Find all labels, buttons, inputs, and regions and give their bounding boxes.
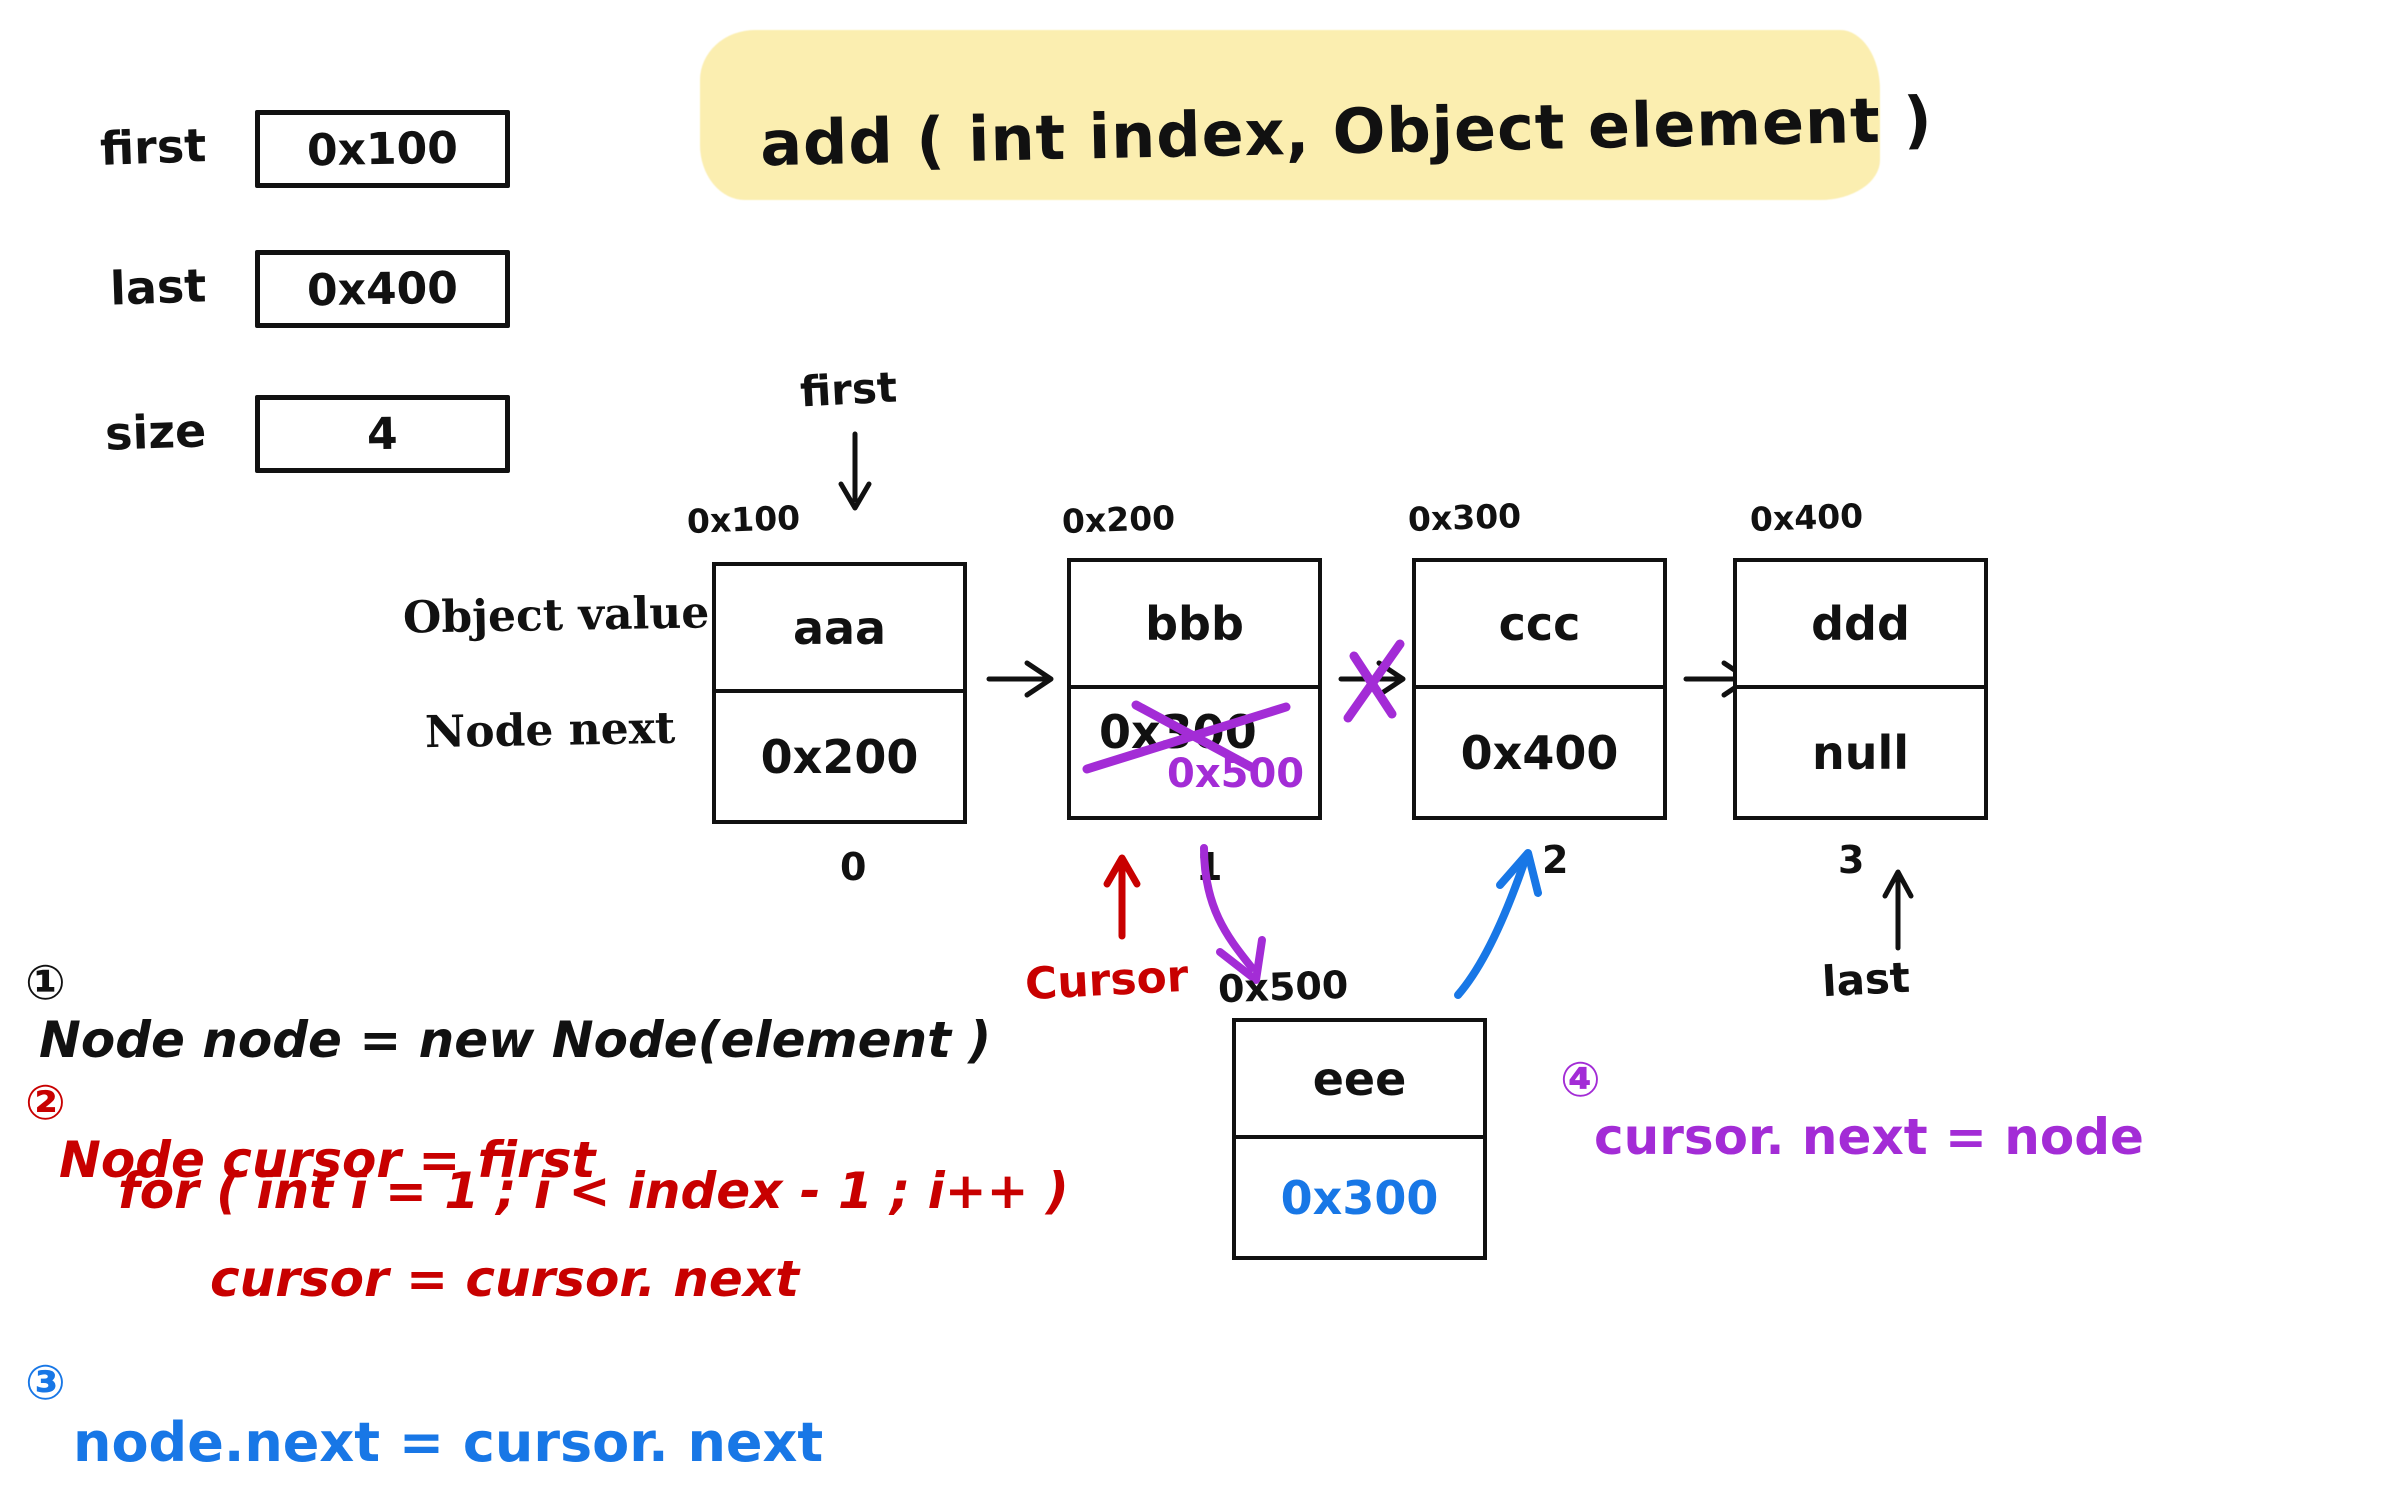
- node-box-3[interactable]: ddd null: [1733, 558, 1988, 820]
- first-pointer-label: first: [799, 362, 898, 416]
- field-box-last[interactable]: 0x400: [255, 250, 510, 328]
- row-label-node-next: Node next: [425, 703, 676, 758]
- node-index-3: 3: [1838, 838, 1864, 882]
- last-pointer-arrow-icon: [1878, 862, 1918, 952]
- node-box-1[interactable]: bbb 0x300 0x500: [1067, 558, 1322, 820]
- new-node-next-cell: 0x300: [1236, 1139, 1483, 1256]
- step-2-for-text: for ( int i = 1 ; i < index - 1 ; i++ ): [118, 1162, 1069, 1220]
- node-next-0: 0x200: [761, 730, 919, 784]
- new-node-address: 0x500: [1217, 963, 1349, 1012]
- node-index-0: 0: [840, 845, 866, 889]
- new-node-value: eee: [1313, 1052, 1407, 1106]
- field-box-first[interactable]: 0x100: [255, 110, 510, 188]
- step-3: ③ node.next = cursor. next: [25, 1355, 823, 1474]
- node-value-3: ddd: [1811, 597, 1910, 651]
- step-1-text: Node node = new Node(element ): [39, 1011, 991, 1069]
- node-value-2: ccc: [1499, 597, 1581, 651]
- field-value-first: 0x100: [307, 122, 459, 176]
- arrow-node0-to-node1-icon: [985, 655, 1065, 703]
- new-node-next: 0x300: [1281, 1171, 1439, 1225]
- node-value-cell-2: ccc: [1416, 562, 1663, 689]
- row-label-object-value: Object value: [403, 587, 710, 643]
- node-address-0: 0x100: [686, 498, 800, 541]
- step-4-text: cursor. next = node: [1594, 1108, 2144, 1166]
- node-next-cell-1: 0x300 0x500: [1071, 689, 1318, 816]
- step-4-number: ④: [1560, 1052, 1601, 1108]
- blue-curve-arrow-icon: [1440, 845, 1580, 1005]
- cursor-label: Cursor: [1024, 951, 1190, 1010]
- new-node-value-cell: eee: [1236, 1022, 1483, 1139]
- step-3-number: ③: [25, 1355, 66, 1411]
- node-box-2[interactable]: ccc 0x400: [1412, 558, 1667, 820]
- node-address-2: 0x300: [1407, 496, 1521, 539]
- new-node-box[interactable]: eee 0x300: [1232, 1018, 1487, 1260]
- step-2-for-loop: for ( int i = 1 ; i < index - 1 ; i++ ): [118, 1162, 1069, 1220]
- step-1-number: ①: [25, 955, 66, 1011]
- field-box-size[interactable]: 4: [255, 395, 510, 473]
- field-label-size: size: [104, 403, 207, 460]
- node-value-cell-0: aaa: [716, 566, 963, 693]
- cancel-link-x-icon: [1330, 630, 1420, 730]
- node-address-3: 0x400: [1749, 496, 1863, 539]
- field-value-last: 0x400: [307, 262, 459, 316]
- step-2-body-text: cursor = cursor. next: [210, 1250, 799, 1308]
- node-value-cell-3: ddd: [1737, 562, 1984, 689]
- step-2-number: ②: [25, 1075, 66, 1131]
- node-next-cell-0: 0x200: [716, 693, 963, 820]
- step-1: ① Node node = new Node(element ): [25, 955, 991, 1069]
- node-box-0[interactable]: aaa 0x200: [712, 562, 967, 824]
- first-pointer-arrow-icon: [835, 430, 875, 520]
- node-next-cell-2: 0x400: [1416, 689, 1663, 816]
- node-next-2: 0x400: [1461, 726, 1619, 780]
- step-4: ④ cursor. next = node: [1560, 1052, 2144, 1166]
- field-label-last: last: [109, 258, 207, 315]
- node-value-0: aaa: [793, 601, 886, 655]
- node-value-1: bbb: [1145, 597, 1244, 651]
- node-address-1: 0x200: [1061, 498, 1175, 541]
- node-next-new-1: 0x500: [1167, 751, 1304, 797]
- field-value-size: 4: [367, 408, 399, 460]
- step-3-text: node.next = cursor. next: [73, 1411, 823, 1474]
- step-2-loop-body: cursor = cursor. next: [210, 1250, 799, 1308]
- field-label-first: first: [99, 118, 207, 176]
- last-pointer-label: last: [1821, 953, 1911, 1007]
- node-next-cell-3: null: [1737, 689, 1984, 816]
- node-value-cell-1: bbb: [1071, 562, 1318, 689]
- node-next-3: null: [1812, 726, 1909, 780]
- cursor-arrow-icon: [1100, 850, 1144, 940]
